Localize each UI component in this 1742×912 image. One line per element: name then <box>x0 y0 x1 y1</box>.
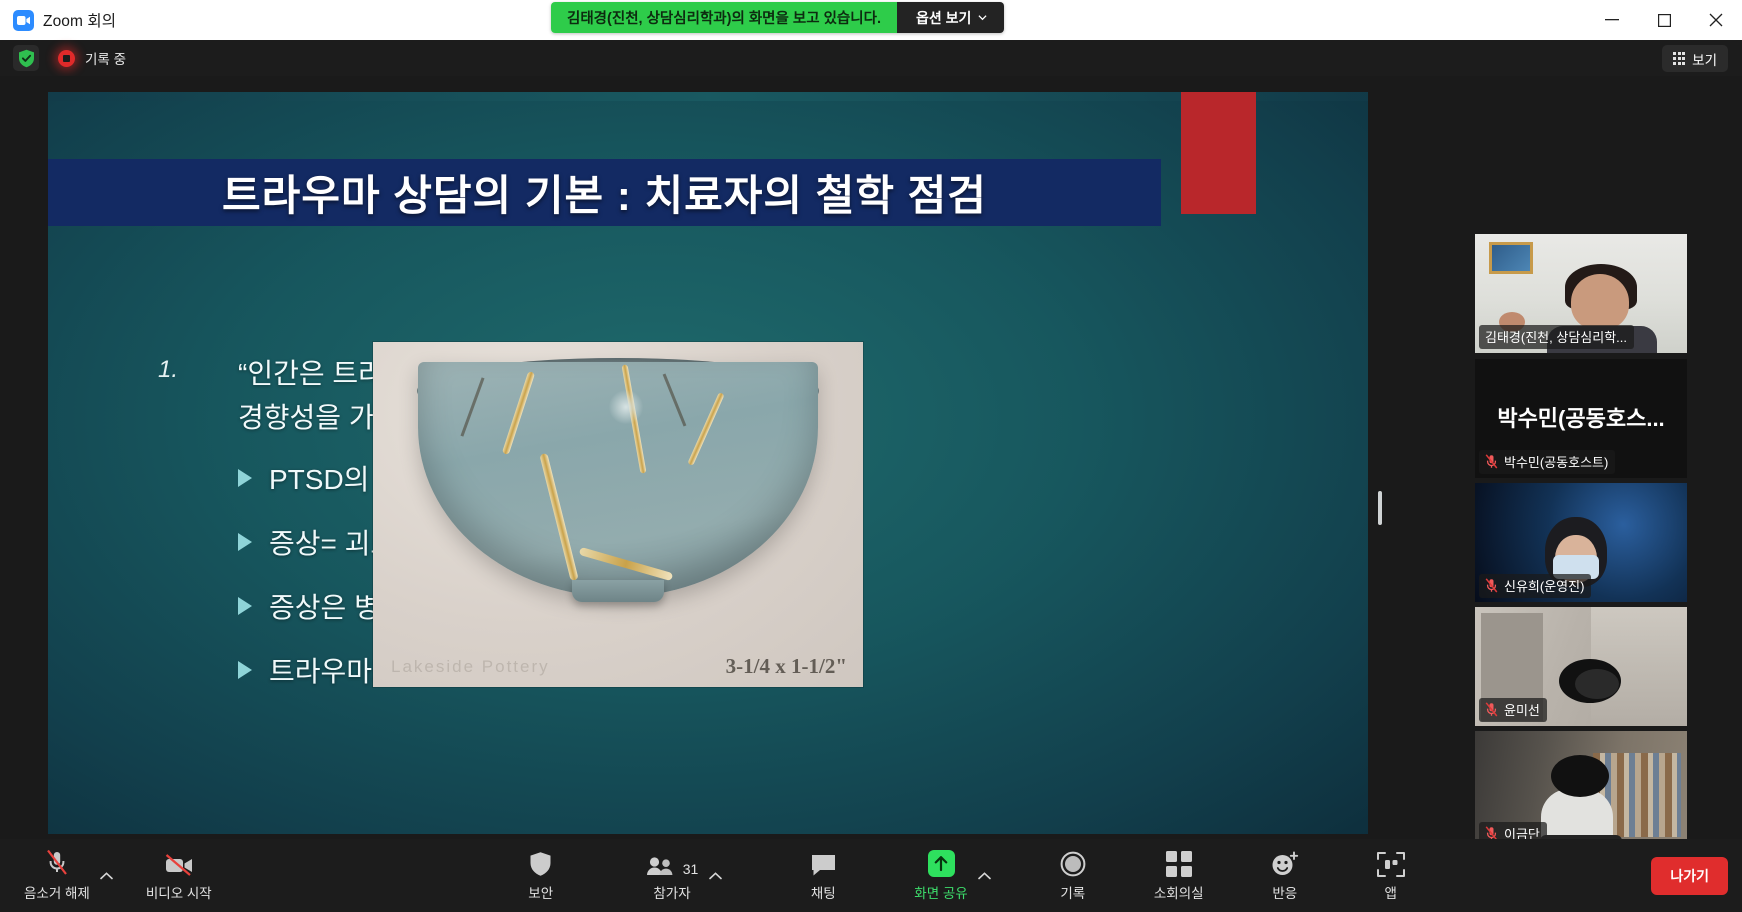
security-shield-button[interactable] <box>13 45 39 71</box>
participant-name-badge: 신유희(운영진) <box>1479 574 1591 598</box>
participant-filmstrip: 김태경(진천, 상담심리학... 박수민(공동호스... 박수민(공동호스트) <box>1475 152 1687 832</box>
apps-icon <box>1377 849 1405 877</box>
people-icon: 31 <box>646 849 699 877</box>
chevron-down-icon <box>978 13 987 22</box>
share-options-caret-button[interactable] <box>974 862 996 890</box>
zoom-camera-icon <box>13 10 34 31</box>
bowl-foot <box>572 580 664 602</box>
minimize-button[interactable] <box>1586 0 1638 40</box>
window-title-bar: Zoom 회의 김태경(진천, 상담심리학과)의 화면을 보고 있습니다. 옵션… <box>0 0 1742 40</box>
participant-name: 신유희(운영진) <box>1504 576 1584 595</box>
presentation-slide: 트라우마 상담의 기본 : 치료자의 철학 점검 1. “인간은 트라우 | 위… <box>48 92 1368 834</box>
slide-top-stripe <box>48 92 1368 101</box>
unmute-button[interactable]: 음소거 해제 <box>18 849 96 902</box>
photo-dimension-label: 3-1/4 x 1-1/2" <box>726 654 847 679</box>
participant-tile-yoon-miseon[interactable]: 윤미선 <box>1475 607 1687 726</box>
unmute-label: 음소거 해제 <box>24 882 90 902</box>
share-banner-text: 김태경(진천, 상담심리학과)의 화면을 보고 있습니다. <box>551 2 897 33</box>
maximize-icon <box>1658 14 1671 27</box>
apps-button[interactable]: 앱 <box>1360 849 1422 902</box>
participant-name-badge: 윤미선 <box>1479 698 1547 722</box>
participants-options-caret-button[interactable] <box>704 862 726 890</box>
shield-icon <box>529 849 552 877</box>
audio-control-group: 음소거 해제 <box>18 849 118 902</box>
meeting-toolbar: 음소거 해제 비디오 시작 보안 <box>0 839 1742 912</box>
start-video-button[interactable]: 비디오 시작 <box>140 849 218 902</box>
record-circle-icon <box>1060 849 1086 877</box>
share-screen-label: 화면 공유 <box>914 882 967 902</box>
chat-bubble-icon <box>810 849 837 877</box>
kintsugi-bowl-photo: Lakeside Pottery 3-1/4 x 1-1/2" <box>373 342 863 687</box>
participant-tile-lee-geumdan[interactable]: 이금단 <box>1475 731 1687 850</box>
security-button[interactable]: 보안 <box>510 849 572 902</box>
participant-name: 김태경(진천, 상담심리학... <box>1485 327 1627 346</box>
participant-name-badge: 김태경(진천, 상담심리학... <box>1479 325 1634 349</box>
numbered-item-marker: 1. <box>158 356 178 384</box>
mic-off-icon <box>1485 578 1498 593</box>
breakout-rooms-button[interactable]: 소회의실 <box>1148 849 1210 902</box>
mic-off-icon <box>1485 702 1498 717</box>
recording-indicator[interactable]: 기록 중 <box>58 48 126 68</box>
reactions-button[interactable]: 반응 <box>1254 849 1316 902</box>
chat-button[interactable]: 채팅 <box>792 849 854 902</box>
apps-label: 앱 <box>1385 882 1397 902</box>
triangle-bullet-icon <box>238 597 252 615</box>
mic-off-icon <box>1485 454 1498 469</box>
participant-tile-park-sumin[interactable]: 박수민(공동호스... 박수민(공동호스트) <box>1475 359 1687 478</box>
participant-tile-shin-yuhee[interactable]: 신유희(운영진) <box>1475 483 1687 602</box>
minimize-icon <box>1605 19 1619 21</box>
window-controls <box>1586 0 1742 40</box>
participant-name: 윤미선 <box>1504 700 1540 719</box>
screen-share-notice: 김태경(진천, 상담심리학과)의 화면을 보고 있습니다. 옵션 보기 <box>551 2 1004 33</box>
breakout-rooms-label: 소회의실 <box>1154 882 1204 902</box>
leave-meeting-button[interactable]: 나가기 <box>1651 857 1728 895</box>
smiley-plus-icon <box>1271 849 1299 877</box>
chevron-up-icon <box>709 872 722 880</box>
grid-icon <box>1673 52 1685 64</box>
photo-watermark: Lakeside Pottery <box>391 657 550 677</box>
participant-tile-kim-taekyung[interactable]: 김태경(진천, 상담심리학... <box>1475 234 1687 353</box>
shield-check-icon <box>18 49 35 68</box>
view-options-button[interactable]: 옵션 보기 <box>897 2 1004 33</box>
share-screen-button[interactable]: 화면 공유 <box>908 849 973 902</box>
video-off-icon <box>164 849 194 877</box>
security-label: 보안 <box>528 882 553 902</box>
audio-options-caret-button[interactable] <box>96 862 118 890</box>
slide-title: 트라우마 상담의 기본 : 치료자의 철학 점검 <box>222 162 987 223</box>
view-options-label: 옵션 보기 <box>916 8 971 28</box>
panel-resize-handle[interactable] <box>1378 491 1382 525</box>
triangle-bullet-icon <box>238 533 252 551</box>
record-label: 기록 <box>1060 882 1085 902</box>
view-label: 보기 <box>1692 49 1717 69</box>
mic-off-icon <box>45 849 69 877</box>
triangle-bullet-icon <box>238 661 252 679</box>
slide-body: 1. “인간은 트라우 | 위한 내재된 경향성을 가지고 PTSD의 자 회복… <box>48 242 1368 832</box>
title-bar-left: Zoom 회의 <box>0 9 116 31</box>
close-button[interactable] <box>1690 0 1742 40</box>
chevron-up-icon <box>100 872 113 880</box>
share-up-arrow-icon <box>928 849 955 877</box>
chevron-up-icon <box>978 872 991 880</box>
participant-name-badge: 박수민(공동호스트) <box>1479 450 1615 474</box>
participants-count: 31 <box>683 861 699 877</box>
slide-accent-block <box>1181 92 1256 214</box>
app-title: Zoom 회의 <box>43 9 116 31</box>
participant-name: 박수민(공동호스트) <box>1504 452 1608 471</box>
participant-placeholder-name: 박수민(공동호스... <box>1475 401 1687 433</box>
triangle-bullet-icon <box>238 469 252 487</box>
chat-label: 채팅 <box>811 882 836 902</box>
breakout-grid-icon <box>1166 849 1192 877</box>
participants-button[interactable]: 31 참가자 <box>640 849 705 902</box>
view-layout-button[interactable]: 보기 <box>1662 45 1728 72</box>
record-button[interactable]: 기록 <box>1042 849 1104 902</box>
start-video-label: 비디오 시작 <box>146 882 212 902</box>
recording-dot-icon <box>58 50 75 67</box>
reactions-label: 반응 <box>1272 882 1297 902</box>
close-icon <box>1709 13 1723 27</box>
video-control-group: 비디오 시작 <box>140 849 218 902</box>
participants-control-group: 31 참가자 <box>640 849 727 902</box>
share-control-group: 화면 공유 <box>908 849 995 902</box>
shared-screen-stage: 트라우마 상담의 기본 : 치료자의 철학 점검 1. “인간은 트라우 | 위… <box>0 76 1742 839</box>
slide-title-band: 트라우마 상담의 기본 : 치료자의 철학 점검 <box>48 159 1161 226</box>
participants-label: 참가자 <box>653 882 690 902</box>
meeting-sub-header: 기록 중 보기 <box>0 40 1742 76</box>
maximize-button[interactable] <box>1638 0 1690 40</box>
recording-label: 기록 중 <box>85 48 126 68</box>
